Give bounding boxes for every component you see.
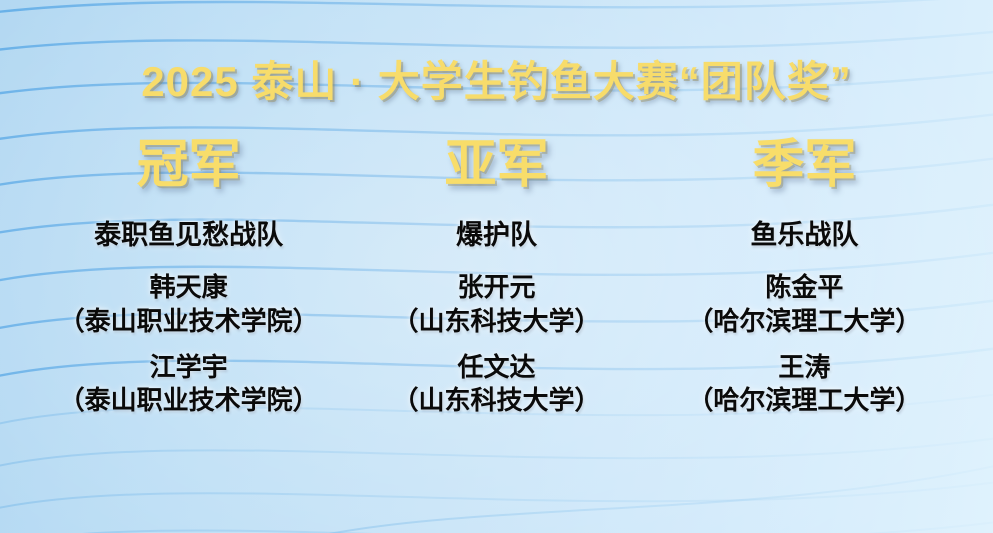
member-school: （哈尔滨理工大学） — [646, 305, 963, 338]
member-name: 张开元 — [347, 271, 646, 304]
member-entry: 陈金平 （哈尔滨理工大学） — [646, 271, 963, 338]
member-school: （山东科技大学） — [347, 384, 646, 417]
award-columns: 冠军 泰职鱼见愁战队 韩天康 （泰山职业技术学院） 江学宇 （泰山职业技术学院）… — [30, 138, 963, 417]
member-entry: 王涛 （哈尔滨理工大学） — [646, 351, 963, 418]
member-school: （山东科技大学） — [347, 305, 646, 338]
team-name-third-place: 鱼乐战队 — [646, 221, 963, 251]
member-name: 王涛 — [646, 351, 963, 384]
member-school: （泰山职业技术学院） — [30, 305, 347, 338]
member-name: 陈金平 — [646, 271, 963, 304]
member-entry: 张开元 （山东科技大学） — [347, 271, 646, 338]
team-name-champion: 泰职鱼见愁战队 — [30, 221, 347, 251]
member-entry: 任文达 （山东科技大学） — [347, 351, 646, 418]
rank-title-champion: 冠军 — [30, 138, 347, 193]
team-name-runner-up: 爆护队 — [347, 221, 646, 251]
member-name: 任文达 — [347, 351, 646, 384]
award-column-third-place: 季军 鱼乐战队 陈金平 （哈尔滨理工大学） 王涛 （哈尔滨理工大学） — [646, 138, 963, 417]
member-name: 江学宇 — [30, 351, 347, 384]
rank-title-third-place: 季军 — [646, 138, 963, 193]
rank-title-runner-up: 亚军 — [347, 138, 646, 193]
member-name: 韩天康 — [30, 271, 347, 304]
member-entry: 韩天康 （泰山职业技术学院） — [30, 271, 347, 338]
member-school: （泰山职业技术学院） — [30, 384, 347, 417]
award-poster: 2025 泰山 · 大学生钓鱼大赛“团队奖” 冠军 泰职鱼见愁战队 韩天康 （泰… — [0, 0, 993, 533]
member-school: （哈尔滨理工大学） — [646, 384, 963, 417]
award-column-runner-up: 亚军 爆护队 张开元 （山东科技大学） 任文达 （山东科技大学） — [347, 138, 646, 417]
page-title: 2025 泰山 · 大学生钓鱼大赛“团队奖” — [0, 48, 993, 109]
member-entry: 江学宇 （泰山职业技术学院） — [30, 351, 347, 418]
award-column-champion: 冠军 泰职鱼见愁战队 韩天康 （泰山职业技术学院） 江学宇 （泰山职业技术学院） — [30, 138, 347, 417]
